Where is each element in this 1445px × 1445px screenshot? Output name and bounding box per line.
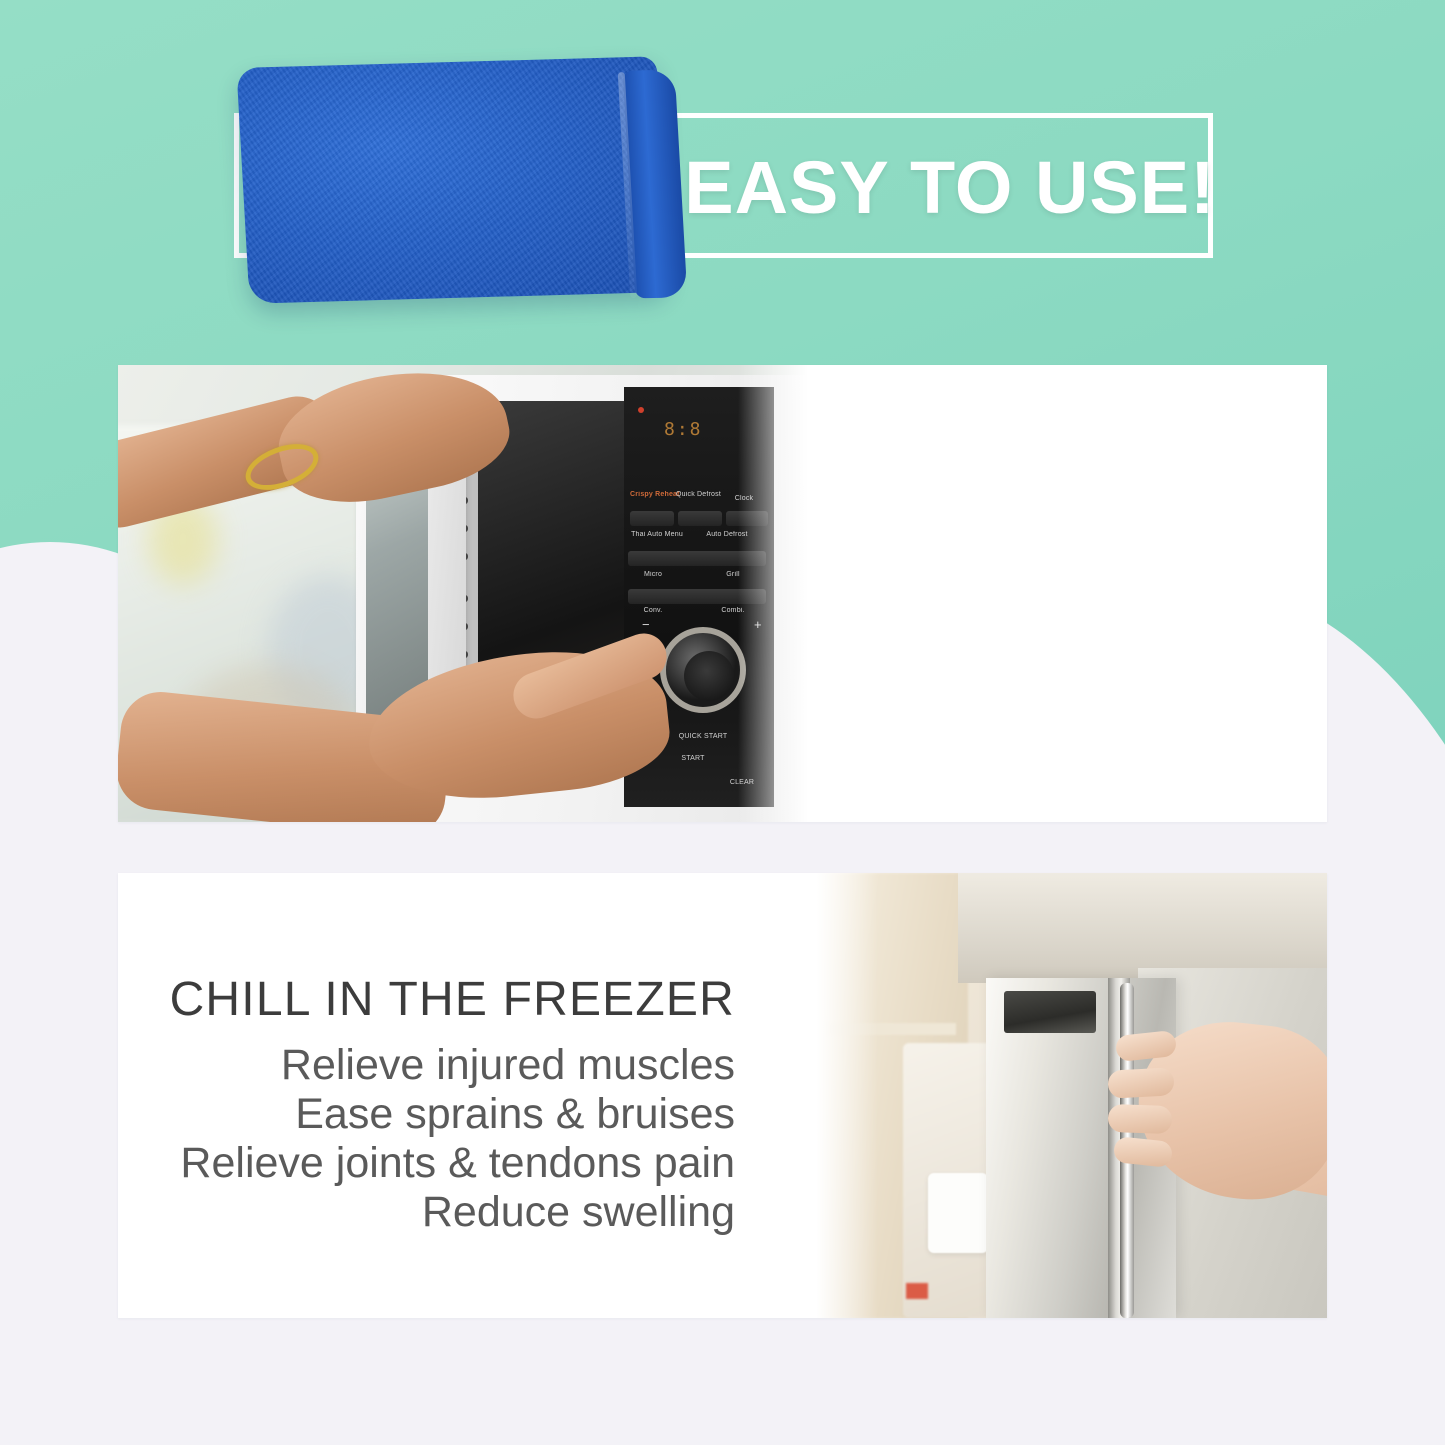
finger-2 bbox=[1107, 1067, 1174, 1098]
product-image-heat-pack bbox=[243, 62, 703, 310]
interior-container bbox=[928, 1173, 988, 1253]
card-heat-in-the-microwave: 8:8 Crispy Reheat Quick Defrost Clock Th… bbox=[118, 365, 1327, 822]
panel-key-5[interactable] bbox=[628, 589, 766, 604]
panel-label-start[interactable]: START bbox=[658, 755, 728, 762]
panel-key-3[interactable] bbox=[726, 511, 768, 526]
microwave-photo: 8:8 Crispy Reheat Quick Defrost Clock Th… bbox=[118, 365, 818, 822]
list-item: Reduce swelling bbox=[0, 1188, 735, 1237]
panel-label-grill[interactable]: Grill bbox=[710, 571, 756, 578]
panel-label-combi[interactable]: Combi. bbox=[710, 607, 756, 614]
interior-red-item bbox=[906, 1283, 928, 1299]
dial-inner bbox=[684, 651, 734, 701]
heat-text-block: HEAT IN THE MICROWAVE Relieve sore muscl… bbox=[864, 820, 1327, 822]
panel-key-4[interactable] bbox=[628, 551, 766, 566]
hero-headline: EASY TO USE! bbox=[700, 132, 1200, 242]
panel-label-thai-auto-menu[interactable]: Thai Auto Menu bbox=[626, 531, 688, 538]
list-item: Relieve joints & tendons pain bbox=[0, 1139, 735, 1188]
panel-label-clear[interactable]: CLEAR bbox=[714, 779, 770, 786]
list-item: Ease sprains & bruises bbox=[0, 1090, 735, 1139]
panel-label-auto-defrost[interactable]: Auto Defrost bbox=[694, 531, 760, 538]
list-item: Relieve injured muscles bbox=[0, 1041, 735, 1090]
indicator-light bbox=[638, 407, 644, 413]
panel-label-clock[interactable]: Clock bbox=[724, 495, 764, 502]
panel-label-micro[interactable]: Micro bbox=[630, 571, 676, 578]
panel-label-quick-start[interactable]: QUICK START bbox=[658, 733, 748, 740]
fleece-pouch-body bbox=[236, 56, 669, 303]
chill-benefit-list: Relieve injured muscles Ease sprains & b… bbox=[0, 1041, 735, 1237]
heat-section-title: HEAT IN THE MICROWAVE bbox=[864, 820, 1327, 822]
panel-key-2[interactable] bbox=[678, 511, 722, 526]
microwave-dial-knob[interactable] bbox=[660, 627, 746, 713]
panel-label-crispy-reheat[interactable]: Crispy Reheat bbox=[630, 491, 674, 498]
panel-key-1[interactable] bbox=[630, 511, 674, 526]
microwave-display: 8:8 bbox=[664, 419, 734, 463]
finger-3 bbox=[1108, 1104, 1173, 1134]
panel-label-conv[interactable]: Conv. bbox=[630, 607, 676, 614]
freezer-photo bbox=[808, 873, 1327, 1318]
chill-text-block: CHILL IN THE FREEZER Relieve injured mus… bbox=[0, 975, 850, 1237]
dial-minus-icon: − bbox=[642, 617, 650, 632]
dial-plus-icon: + bbox=[754, 617, 762, 632]
chill-section-title: CHILL IN THE FREEZER bbox=[0, 975, 735, 1025]
fridge-top-panel bbox=[958, 873, 1327, 983]
panel-label-quick-defrost[interactable]: Quick Defrost bbox=[676, 491, 720, 498]
door-chrome-accent bbox=[1004, 991, 1096, 1033]
infographic-canvas: EASY TO USE! 8:8 Crispy Reheat bbox=[0, 0, 1445, 1445]
